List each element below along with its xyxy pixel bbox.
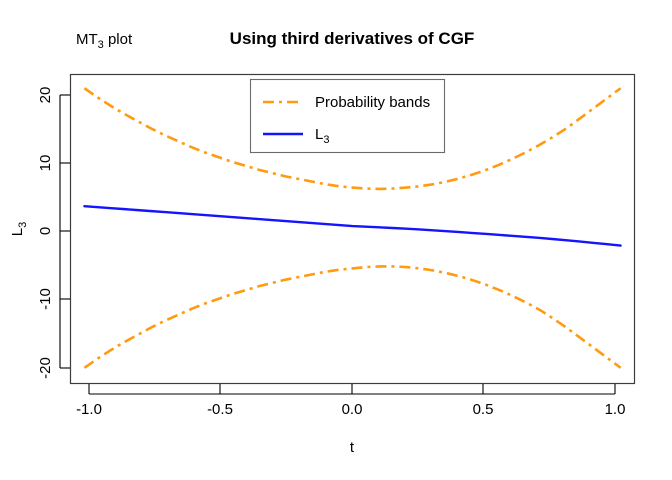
legend-box (251, 80, 445, 153)
legend-label-l3-base: L (315, 126, 323, 143)
legend: Probability bands L3 (251, 80, 445, 153)
x-tick-label-2: 0.0 (342, 401, 363, 418)
page-title: Using third derivatives of CGF (230, 29, 475, 48)
svg-text:L3: L3 (9, 222, 29, 236)
x-axis-title: t (350, 439, 355, 456)
y-tick-label-4: -20 (37, 357, 54, 379)
x-tick-label-4: 1.0 (605, 401, 626, 418)
subtitle-suffix: plot (104, 31, 133, 48)
x-tick-label-0: -1.0 (76, 401, 102, 418)
chart-svg: 20 10 0 -10 -20 -1.0 -0.5 0.0 0.5 1.0 t … (0, 0, 672, 480)
plot-canvas: 20 10 0 -10 -20 -1.0 -0.5 0.0 0.5 1.0 t … (0, 0, 672, 480)
y-tick-label-2: 0 (37, 227, 54, 235)
x-tick-label-3: 0.5 (473, 401, 494, 418)
x-tick-label-1: -0.5 (207, 401, 233, 418)
series-l3-curve (84, 206, 620, 245)
y-tick-label-3: -10 (37, 288, 54, 310)
legend-label-l3-sub: 3 (323, 134, 329, 146)
y-axis-title-base: L (9, 228, 26, 236)
series-probability-band-lower (84, 266, 620, 367)
subtitle: MT3 plot (76, 31, 133, 51)
y-tick-marks (60, 95, 70, 368)
y-axis-title: L3 (9, 222, 29, 236)
y-axis-title-sub: 3 (17, 222, 29, 228)
y-tick-label-1: 10 (37, 155, 54, 172)
legend-label-probability-bands: Probability bands (315, 94, 430, 111)
x-tick-marks (89, 384, 615, 394)
subtitle-prefix: MT (76, 31, 98, 48)
y-tick-label-0: 20 (37, 87, 54, 104)
